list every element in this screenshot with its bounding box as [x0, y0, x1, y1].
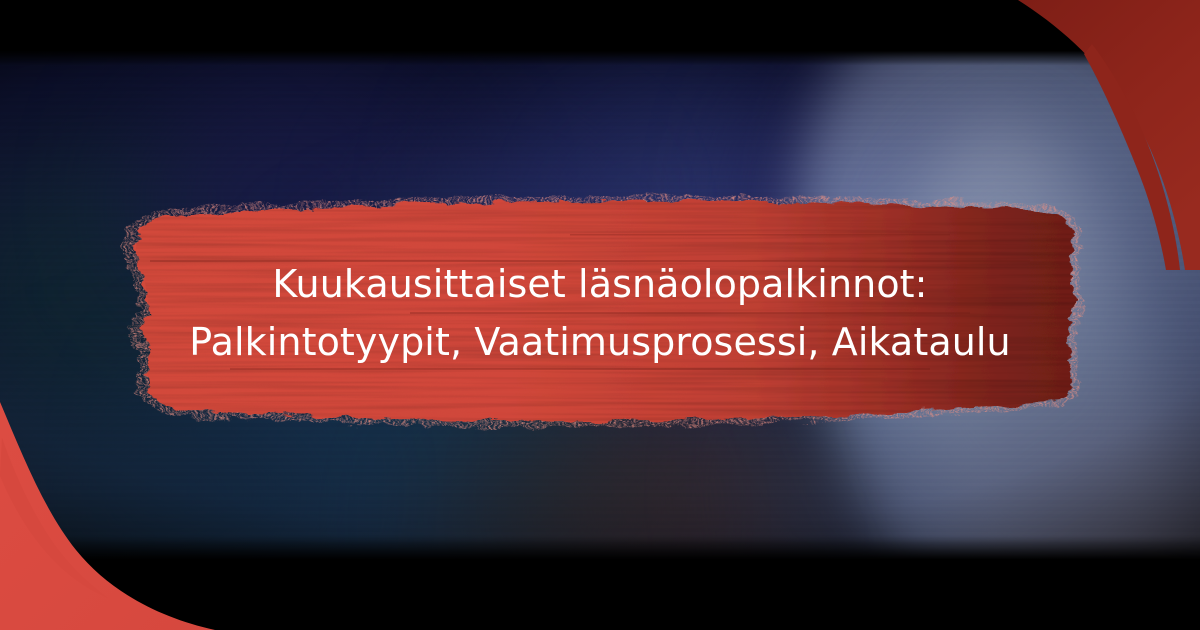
- letterbox-bar-top: [0, 0, 1200, 26]
- red-brush-stroke: [110, 190, 1095, 438]
- letterbox-fade-bottom: [0, 536, 1200, 592]
- letterbox-fade-top: [0, 26, 1200, 66]
- share-card: Kuukausittaiset läsnäolopalkinnot: Palki…: [0, 0, 1200, 630]
- letterbox-bar-bottom: [0, 592, 1200, 630]
- brush-stroke-shape: [110, 190, 1095, 438]
